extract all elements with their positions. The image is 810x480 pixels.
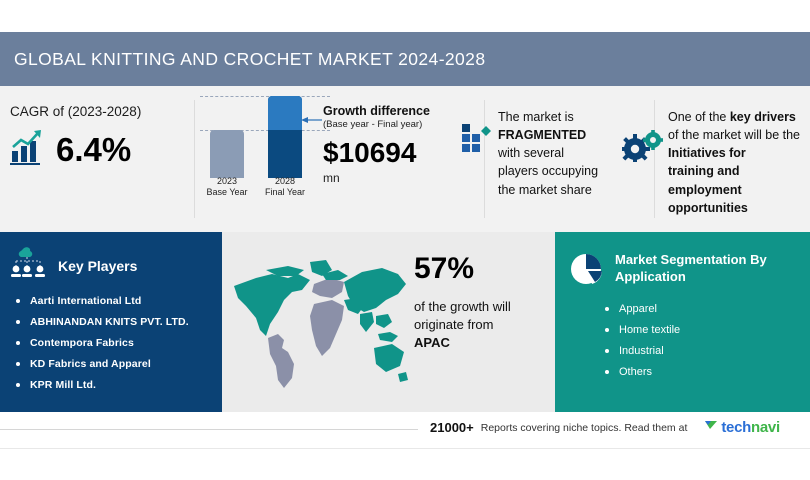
- growth-note-title: Growth difference: [323, 104, 473, 118]
- list-item: KD Fabrics and Apparel: [16, 358, 222, 370]
- cagr-value: 6.4%: [56, 133, 131, 166]
- growth-amount: $10694: [323, 139, 473, 167]
- bar-2023: [210, 130, 244, 178]
- header-bar: GLOBAL KNITTING AND CROCHET MARKET 2024-…: [0, 32, 810, 86]
- frag-line2: with several: [498, 146, 564, 160]
- pie-chart-icon: [569, 252, 605, 293]
- cagr-block: CAGR of (2023-2028) 6.4%: [10, 104, 190, 170]
- report-count: 21000+: [430, 420, 474, 435]
- bar-label-2023: 2023 Base Year: [205, 176, 249, 199]
- growth-unit: mn: [323, 171, 473, 185]
- arrow-left-icon: [301, 112, 323, 122]
- footer-bar: 21000+ Reports covering niche topics. Re…: [0, 412, 810, 448]
- divider-2: [484, 100, 485, 218]
- cagr-label: CAGR of (2023-2028): [10, 104, 190, 119]
- frag-line1: The market is: [498, 110, 574, 124]
- frag-emphasis: FRAGMENTED: [498, 128, 586, 142]
- world-map: [226, 248, 412, 396]
- list-item: Home textile: [605, 324, 810, 336]
- bar-growth-segment: [268, 96, 302, 130]
- squares-diamond-icon: [462, 122, 492, 159]
- org-chart-people-icon: [10, 246, 50, 285]
- growth-difference-block: Growth difference (Base year - Final yea…: [323, 104, 473, 185]
- gridline-top: [200, 96, 330, 97]
- apac-region: APAC: [414, 335, 450, 350]
- drivers-emph-2: training and: [668, 164, 740, 178]
- apac-growth-panel: 57% of the growth will originate from AP…: [222, 232, 555, 412]
- list-item: Apparel: [605, 303, 810, 315]
- key-players-panel: Key Players Aarti International Ltd ABHI…: [0, 232, 222, 412]
- list-item: Contempora Fabrics: [16, 337, 222, 349]
- drivers-line2: of the market will be the: [668, 128, 800, 142]
- apac-percent: 57%: [414, 254, 554, 284]
- drivers-text: One of the key drivers of the market wil…: [668, 108, 810, 217]
- segmentation-title: Market Segmentation By Application: [615, 252, 785, 286]
- segmentation-header: Market Segmentation By Application: [555, 232, 810, 293]
- footer-content: 21000+ Reports covering niche topics. Re…: [430, 418, 780, 437]
- drivers-line1-a: One of the: [668, 110, 730, 124]
- technavio-logo[interactable]: technavi: [704, 418, 779, 437]
- bar-2028: [268, 96, 302, 178]
- key-players-header: Key Players: [0, 232, 222, 285]
- drivers-emph-1: Initiatives for: [668, 146, 746, 160]
- bar-chart-growth-icon: [10, 129, 50, 170]
- logo-text-part1: tech: [721, 419, 751, 436]
- upper-stats-band: CAGR of (2023-2028) 6.4%: [0, 86, 810, 232]
- logo-text-part2: navi: [751, 419, 780, 436]
- list-item: KPR Mill Ltd.: [16, 379, 222, 391]
- key-players-title: Key Players: [58, 258, 137, 274]
- apac-text-block: 57% of the growth will originate from AP…: [414, 254, 554, 353]
- key-players-list: Aarti International Ltd ABHINANDAN KNITS…: [0, 295, 222, 391]
- drivers-emph-4: opportunities: [668, 201, 748, 215]
- bottom-divider: [0, 448, 810, 449]
- bar-chart-plot: 2023 Base Year 2028 Final Year: [200, 96, 330, 196]
- gears-icon: [622, 130, 664, 167]
- middle-band: Key Players Aarti International Ltd ABHI…: [0, 232, 810, 412]
- growth-note-subtitle: (Base year - Final year): [323, 119, 473, 130]
- market-segmentation-panel: Market Segmentation By Application Appar…: [555, 232, 810, 412]
- infographic-canvas: GLOBAL KNITTING AND CROCHET MARKET 2024-…: [0, 0, 810, 480]
- list-item: Others: [605, 366, 810, 378]
- footer-text: Reports covering niche topics. Read them…: [481, 422, 688, 434]
- page-title: GLOBAL KNITTING AND CROCHET MARKET 2024-…: [0, 49, 485, 70]
- list-item: ABHINANDAN KNITS PVT. LTD.: [16, 316, 222, 328]
- technavio-arrow-icon: [704, 418, 718, 437]
- list-item: Industrial: [605, 345, 810, 357]
- frag-line3: players occupying: [498, 164, 598, 178]
- apac-desc-1: of the growth will: [414, 299, 511, 314]
- key-drivers-block: One of the key drivers of the market wil…: [668, 108, 810, 217]
- segmentation-list: Apparel Home textile Industrial Others: [555, 303, 810, 378]
- apac-description: of the growth will originate from APAC: [414, 298, 554, 353]
- drivers-emph-3: employment: [668, 183, 742, 197]
- apac-desc-2: originate from: [414, 317, 493, 332]
- divider-1: [194, 100, 195, 218]
- bar-label-2028: 2028 Final Year: [263, 176, 307, 199]
- drivers-line1-b: key drivers: [730, 110, 796, 124]
- cagr-row: 6.4%: [10, 129, 190, 170]
- footer-rule: [0, 429, 418, 430]
- list-item: Aarti International Ltd: [16, 295, 222, 307]
- frag-line4: the market share: [498, 183, 592, 197]
